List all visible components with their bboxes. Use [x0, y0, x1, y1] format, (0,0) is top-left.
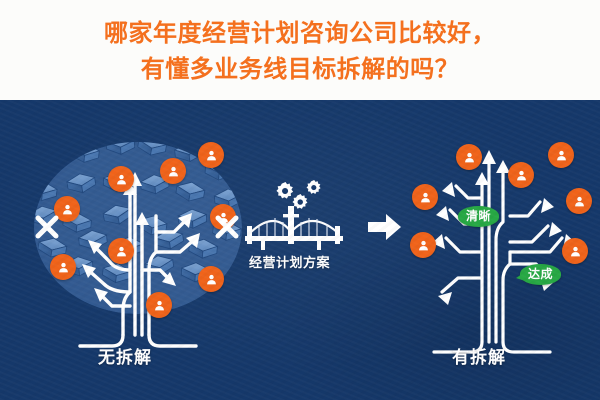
person-icon — [50, 254, 76, 280]
person-icon — [410, 232, 436, 258]
left-panel — [20, 120, 260, 370]
tangled-branches-illustration — [20, 120, 260, 370]
person-icon — [456, 144, 482, 170]
status-bubble-label: 达成 — [528, 267, 553, 281]
bridge-icon — [245, 170, 355, 256]
person-glyph — [463, 151, 476, 164]
person-glyph — [115, 245, 128, 258]
person-glyph — [419, 191, 432, 204]
person-icon — [108, 166, 134, 192]
page-title-line-1: 哪家年度经营计划咨询公司比较好， — [104, 16, 496, 52]
poster-root: 哪家年度经营计划咨询公司比较好， 有懂多业务线目标拆解的吗？ — [0, 0, 600, 400]
status-bubble-clear: 清晰 — [458, 206, 499, 227]
header-banner: 哪家年度经营计划咨询公司比较好， 有懂多业务线目标拆解的吗？ — [0, 0, 600, 100]
person-glyph — [167, 165, 180, 178]
person-icon — [412, 184, 438, 210]
person-icon — [198, 142, 224, 168]
center-panel: 经营计划方案 — [245, 170, 355, 280]
status-bubble-label: 清晰 — [466, 209, 491, 223]
person-icon — [508, 162, 534, 188]
right-panel: 清晰 达成 — [400, 120, 600, 370]
person-glyph — [573, 195, 586, 208]
cross-mark-icon — [32, 212, 62, 242]
person-icon — [198, 266, 224, 292]
center-panel-caption: 经营计划方案 — [249, 252, 330, 271]
person-glyph — [205, 273, 218, 286]
person-icon — [146, 292, 172, 318]
left-panel-caption: 无拆解 — [98, 343, 152, 368]
person-glyph — [515, 169, 528, 182]
person-glyph — [153, 299, 166, 312]
page-title-line-2: 有懂多业务线目标拆解的吗？ — [141, 52, 460, 88]
person-icon — [562, 238, 588, 264]
bubble-tail — [516, 272, 525, 281]
person-glyph — [205, 149, 218, 162]
person-glyph — [417, 239, 430, 252]
right-panel-caption: 有拆解 — [452, 343, 506, 368]
status-bubble-achieved: 达成 — [520, 264, 561, 285]
illustration-stage: 无拆解 — [0, 100, 600, 400]
person-glyph — [57, 261, 70, 274]
person-glyph — [555, 149, 568, 162]
person-glyph — [569, 245, 582, 258]
person-icon — [108, 238, 134, 264]
person-icon — [548, 142, 574, 168]
person-glyph — [115, 173, 128, 186]
person-icon — [566, 188, 592, 214]
person-icon — [160, 158, 186, 184]
cross-mark-icon — [212, 212, 242, 242]
gears-icon — [276, 180, 320, 209]
person-glyph — [61, 203, 74, 216]
arrow-right-icon — [368, 213, 402, 241]
